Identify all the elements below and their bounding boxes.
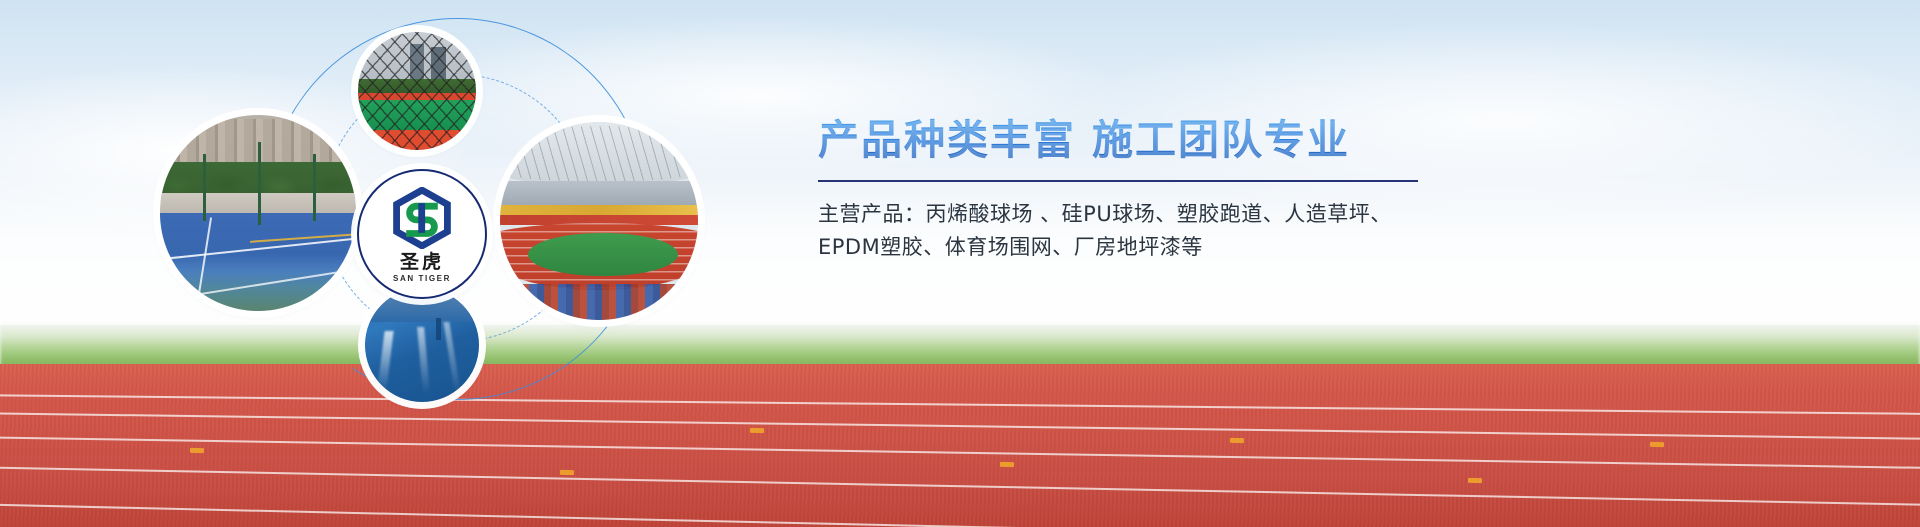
track-marker (1230, 438, 1244, 443)
subtitle-line-2: EPDM塑胶、体育场围网、厂房地坪漆等 (818, 231, 1458, 264)
headline-part-2: 施工团队专业 (1092, 116, 1350, 164)
photo-acrylic-court (160, 115, 356, 311)
banner-headline: 产品种类丰富施工团队专业 (818, 118, 1458, 164)
company-logo-badge: 圣虎 SAN TIGER (357, 169, 487, 299)
track-marker (1468, 478, 1482, 483)
photo-epoxy-floor (365, 288, 479, 402)
subtitle-line-1: 主营产品：丙烯酸球场 、硅PU球场、塑胶跑道、人造草坪、 (818, 198, 1458, 231)
track-marker (1000, 462, 1014, 467)
headline-divider (818, 180, 1418, 182)
photo-stadium-track (500, 122, 698, 320)
hexagon-s-logo-icon (391, 187, 453, 249)
logo-name-cn: 圣虎 (400, 253, 444, 272)
banner-text-block: 产品种类丰富施工团队专业 主营产品：丙烯酸球场 、硅PU球场、塑胶跑道、人造草坪… (818, 118, 1458, 264)
photo-circle-cluster: 圣虎 SAN TIGER (140, 0, 700, 527)
banner-subtitle: 主营产品：丙烯酸球场 、硅PU球场、塑胶跑道、人造草坪、 EPDM塑胶、体育场围… (818, 198, 1458, 264)
track-marker (750, 428, 764, 433)
headline-part-1: 产品种类丰富 (818, 116, 1076, 164)
photo-fenced-court (358, 32, 476, 150)
promo-banner: 圣虎 SAN TIGER 产品种类丰富施工团队专业 主营产品：丙烯酸球场 、硅P… (0, 0, 1920, 527)
track-marker (1650, 442, 1664, 447)
logo-name-en: SAN TIGER (393, 275, 451, 283)
